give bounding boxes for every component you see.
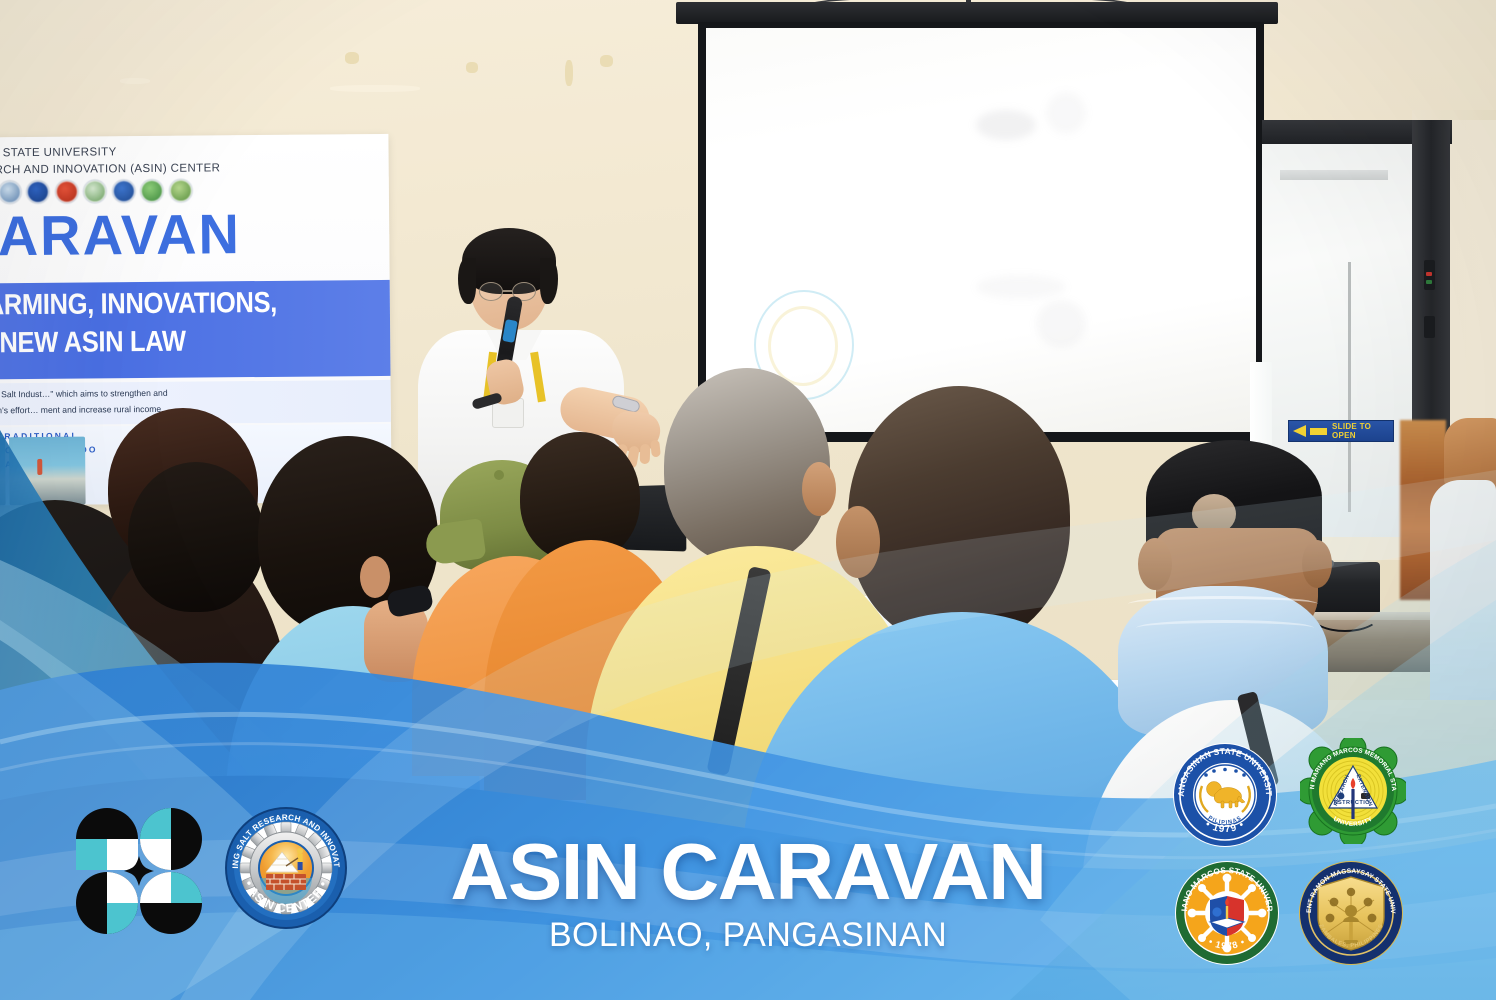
- slide-to-open-label: SLIDE TO OPEN: [1332, 422, 1389, 440]
- agency-seal-icon: [84, 180, 106, 202]
- audience-member: [1430, 480, 1496, 700]
- banner-org-line-1: PANGASINAN STATE UNIVERSITY: [0, 146, 117, 160]
- banner-headline-line-2: ATING THE NEW ASIN LAW: [0, 326, 186, 362]
- banner-photo-chip: [9, 437, 86, 506]
- agency-seal-icon: [169, 180, 191, 202]
- banner-headline-line-1: SALT FARMING, INNOVATIONS,: [0, 287, 277, 323]
- asin-center-seal: ACCELERATING SALT RESEARCH AND INNOVATIO…: [224, 806, 348, 930]
- brand-quadrant-logo: [74, 806, 204, 936]
- seal-prmsu: PRESIDENT RAMON MAGSAYSAY STATE UNIVERSI…: [1298, 860, 1404, 966]
- ear: [360, 556, 390, 598]
- screen-top-bar: [676, 2, 1278, 24]
- agency-seal-icon: [141, 180, 163, 202]
- door-vent: [1280, 170, 1388, 180]
- seal-dmmmsu: DON MARIANO MARCOS MEMORIAL STATE UNIVER…: [1300, 738, 1406, 844]
- audience-member: [128, 462, 264, 612]
- glasses-icon: [479, 282, 503, 301]
- seal-pangasinan-state-university: PANGASINAN STATE UNIVERSITY • 1979 • PIL…: [1172, 742, 1278, 848]
- agency-seal-icon: [27, 181, 49, 203]
- agency-seal-icon: [0, 181, 20, 203]
- agency-seal-icon: [55, 181, 77, 203]
- banner-title: N CARAVAN: [0, 201, 241, 269]
- banner-photo-chip: [0, 437, 6, 506]
- banner-agency-seal-row: [0, 180, 191, 204]
- banner-org-line-2: SALT RESEARCH AND INNOVATION (ASIN) CENT…: [0, 162, 220, 177]
- slide-to-open-sign: SLIDE TO OPEN: [1288, 420, 1394, 442]
- seal-mariano-marcos-state-university: MARIANO MARCOS STATE UNIVERSITY • 1978 •: [1174, 860, 1280, 966]
- left-arrow-icon: [1293, 425, 1306, 437]
- agency-seal-icon: [112, 180, 134, 202]
- event-poster-image: SLIDE TO OPEN PANGASINAN STATE UNIVERSIT…: [0, 0, 1496, 1000]
- partner-university-seals: PANGASINAN STATE UNIVERSITY • 1979 • PIL…: [1172, 742, 1412, 966]
